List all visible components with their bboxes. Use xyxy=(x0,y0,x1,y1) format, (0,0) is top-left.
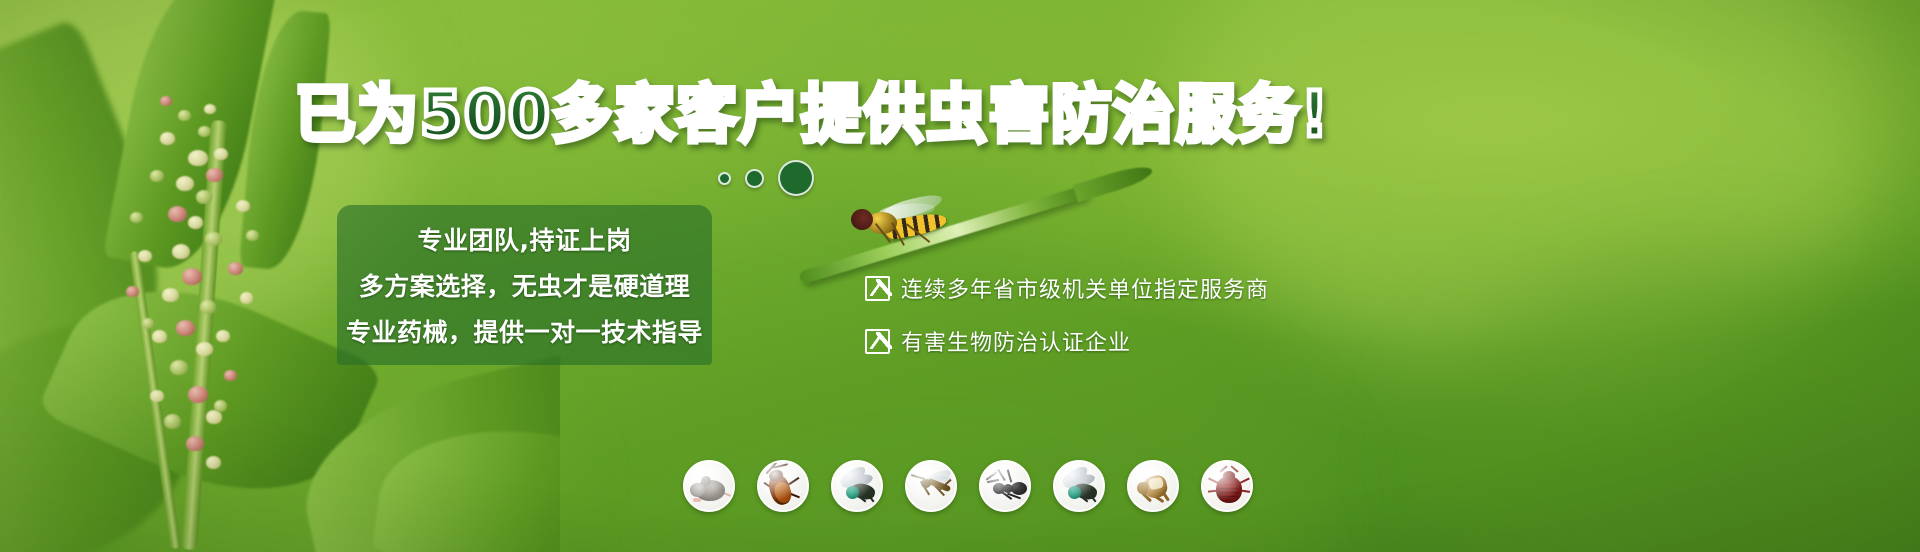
hoverfly-head xyxy=(851,209,873,230)
flower-bud xyxy=(188,150,208,166)
flower-bud xyxy=(160,96,172,106)
checklist-item-label: 有害生物防治认证企业 xyxy=(901,325,1131,357)
flower-bud xyxy=(164,414,181,429)
flower-bud xyxy=(206,168,223,182)
flower-bud xyxy=(240,292,253,304)
flower-bud xyxy=(205,232,222,246)
flower-bud xyxy=(182,268,202,285)
background-bokeh-blob xyxy=(1430,260,1920,552)
credential-checklist: 连续多年省市级机关单位指定服务商 有害生物防治认证企业 xyxy=(865,272,1269,357)
headline-text: 已为500多家客户提供虫害防治服务! xyxy=(295,64,1330,155)
flower-bud xyxy=(168,206,187,222)
flower-bud xyxy=(214,148,228,160)
pest-icon-mosquito[interactable] xyxy=(905,460,957,512)
flower-bud xyxy=(204,104,216,114)
decorative-dot-group xyxy=(718,160,814,196)
flower-bud xyxy=(228,262,243,275)
flower-bud xyxy=(236,200,250,212)
flower-bud xyxy=(126,286,139,297)
pest-icon-row xyxy=(683,460,1253,512)
flower-bud xyxy=(150,170,164,182)
pest-icon-cockroach[interactable] xyxy=(757,460,809,512)
flower-bud xyxy=(138,250,152,262)
flower-bud xyxy=(200,300,216,314)
flower-bud xyxy=(224,370,237,381)
pest-icon-bedbug[interactable] xyxy=(1201,460,1253,512)
flower-bud xyxy=(162,288,179,302)
pest-control-hero-banner: 已为500多家客户提供虫害防治服务! 专业团队,持证上岗 多方案选择，无虫才是硬… xyxy=(0,0,1920,552)
decor-dot-medium xyxy=(745,169,764,188)
flower-bud xyxy=(196,190,212,204)
flower-bud xyxy=(246,230,259,241)
feature-line-1: 专业团队,持证上岗 xyxy=(418,221,632,263)
checkbox-checked-icon xyxy=(865,329,890,354)
pest-icon-housefly[interactable] xyxy=(1053,460,1105,512)
background-bokeh-blob xyxy=(1180,0,1880,380)
flower-bud xyxy=(216,330,230,342)
flower-bud xyxy=(142,318,154,329)
grass-blade-tip xyxy=(1073,162,1155,203)
decor-dot-small xyxy=(718,172,731,185)
flower-bud xyxy=(170,360,188,375)
flower-bud xyxy=(214,400,227,412)
flower-bud xyxy=(176,320,195,336)
banner-headline: 已为500多家客户提供虫害防治服务! xyxy=(295,73,1295,145)
feature-panel-text: 专业团队,持证上岗 多方案选择，无虫才是硬道理 专业药械，提供一对一技术指导 xyxy=(337,205,712,365)
pest-icon-rodent[interactable] xyxy=(683,460,735,512)
feature-line-2: 多方案选择，无虫才是硬道理 xyxy=(359,267,691,309)
flower-bud xyxy=(206,410,222,424)
checklist-item: 有害生物防治认证企业 xyxy=(865,325,1269,357)
flower-bud xyxy=(160,132,175,145)
flower-bud xyxy=(196,342,213,356)
flower-bud xyxy=(188,216,203,229)
hoverfly-illustration xyxy=(845,200,955,258)
flower-bud xyxy=(198,126,211,137)
flower-bud xyxy=(130,212,143,223)
flower-bud xyxy=(172,244,190,259)
feature-line-3: 专业药械，提供一对一技术指导 xyxy=(346,313,703,349)
flower-bud xyxy=(176,176,194,191)
checklist-item-label: 连续多年省市级机关单位指定服务商 xyxy=(901,272,1269,304)
pest-icon-blowfly[interactable] xyxy=(831,460,883,512)
flower-bud xyxy=(186,436,204,451)
pest-icon-ant[interactable] xyxy=(979,460,1031,512)
checklist-item: 连续多年省市级机关单位指定服务商 xyxy=(865,272,1269,304)
pest-icon-flea[interactable] xyxy=(1127,460,1179,512)
flower-bud xyxy=(150,390,164,402)
flower-bud xyxy=(178,110,191,121)
checkbox-checked-icon xyxy=(865,276,890,301)
flower-bud xyxy=(152,330,167,343)
flower-bud xyxy=(206,456,221,469)
flower-bud xyxy=(188,386,208,403)
decor-dot-large xyxy=(778,160,814,196)
